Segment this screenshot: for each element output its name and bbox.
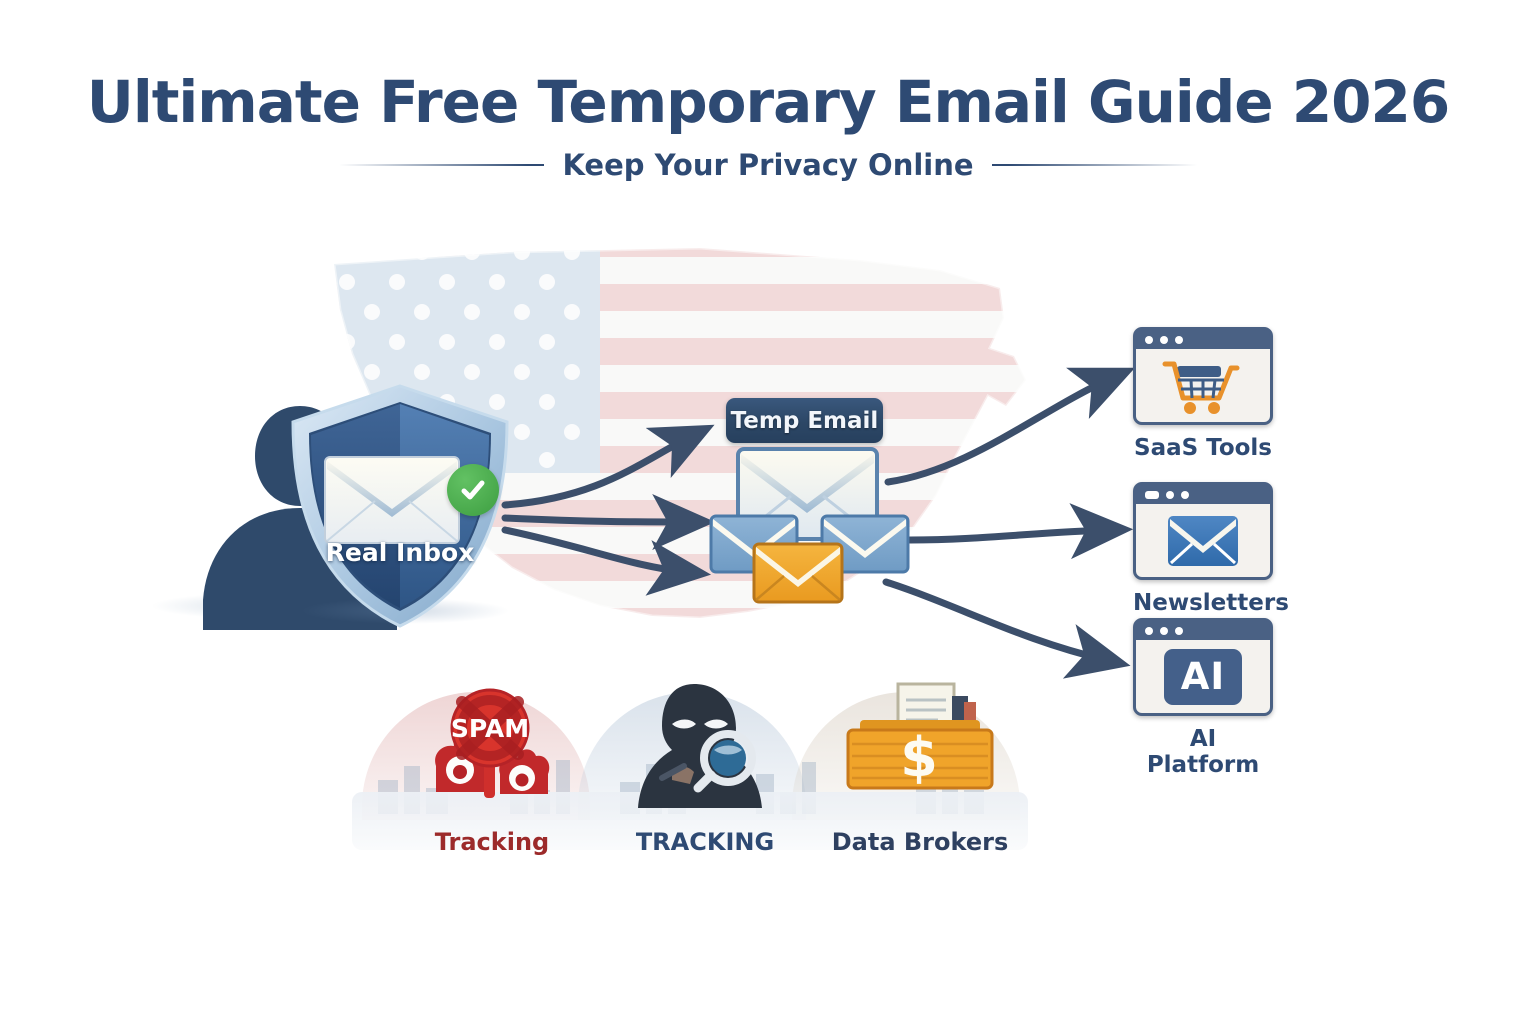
threat-label-tracking: TRACKING — [605, 828, 805, 856]
destination-card-saas-tools[interactable]: SaaS Tools — [1133, 327, 1273, 461]
subtitle-divider-right — [992, 164, 1197, 166]
threat-label-tracking-red: Tracking — [392, 828, 592, 856]
window-dot — [1160, 627, 1168, 635]
destination-card-newsletters[interactable]: Newsletters — [1133, 482, 1273, 616]
destination-label: AI Platform — [1133, 726, 1273, 778]
page-subtitle: Keep Your Privacy Online — [562, 148, 973, 182]
threat-section: SPAM — [360, 672, 1020, 862]
window-dot — [1160, 336, 1168, 344]
page-title: Ultimate Free Temporary Email Guide 2026 — [0, 68, 1536, 136]
green-check-icon — [447, 464, 499, 516]
window-dot — [1145, 336, 1153, 344]
temp-email-badge: Temp Email — [726, 398, 883, 443]
browser-window-frame: AI — [1133, 618, 1273, 716]
window-dot — [1175, 336, 1183, 344]
infographic-canvas: Ultimate Free Temporary Email Guide 2026… — [0, 0, 1536, 1024]
window-dot — [1145, 627, 1153, 635]
subtitle-divider-left — [339, 164, 544, 166]
envelope-blue-icon — [1166, 514, 1240, 568]
window-dot — [1175, 627, 1183, 635]
hooded-spy-magnifier-icon — [632, 680, 768, 808]
browser-window-frame — [1133, 327, 1273, 425]
real-inbox-label: Real Inbox — [285, 538, 515, 567]
window-body: AI — [1136, 640, 1270, 713]
window-titlebar — [1136, 621, 1270, 640]
destination-label: SaaS Tools — [1133, 435, 1273, 461]
shopping-cart-icon — [1161, 358, 1245, 414]
svg-text:SPAM: SPAM — [451, 714, 529, 743]
envelope-icon — [323, 455, 461, 545]
window-body — [1136, 349, 1270, 422]
destination-card-ai-platform[interactable]: AI AI Platform — [1133, 618, 1273, 778]
window-titlebar — [1136, 330, 1270, 349]
window-titlebar — [1136, 485, 1270, 504]
window-dot — [1145, 491, 1159, 499]
threat-label-data-brokers: Data Brokers — [800, 828, 1040, 856]
envelope-orange-icon — [752, 542, 844, 604]
svg-text:$: $ — [900, 726, 938, 789]
window-dot — [1181, 491, 1189, 499]
ai-chip-icon: AI — [1164, 649, 1242, 705]
spam-prohibition-icon: SPAM — [422, 688, 562, 808]
subtitle-row: Keep Your Privacy Online — [0, 148, 1536, 182]
destination-label: Newsletters — [1133, 590, 1273, 616]
browser-window-frame — [1133, 482, 1273, 580]
file-drawer-dollar-icon: $ — [840, 678, 998, 808]
window-body — [1136, 504, 1270, 577]
window-dot — [1166, 491, 1174, 499]
